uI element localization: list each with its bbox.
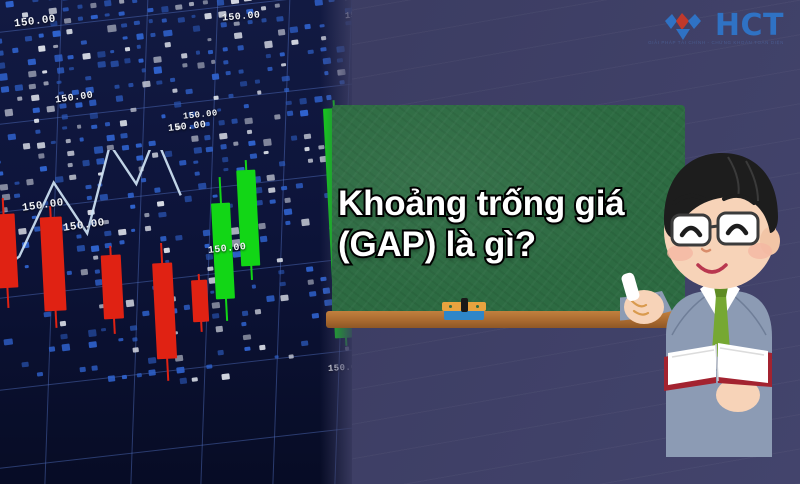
- matrix-dot: [321, 276, 327, 281]
- teacher-head: [664, 153, 780, 289]
- matrix-dot: [261, 6, 267, 11]
- matrix-dot: [324, 192, 331, 198]
- matrix-dot: [121, 23, 127, 28]
- matrix-dot: [161, 6, 170, 13]
- matrix-dot: [62, 7, 68, 12]
- matrix-dot: [340, 80, 345, 84]
- matrix-dot: [62, 126, 67, 130]
- matrix-dot: [79, 138, 84, 142]
- matrix-dot: [54, 55, 63, 62]
- matrix-dot: [110, 60, 119, 67]
- matrix-dot: [15, 84, 24, 91]
- matrix-dot: [163, 30, 172, 37]
- matrix-dot: [195, 50, 200, 54]
- matrix-dot: [345, 347, 350, 351]
- eraser-bottom: [444, 311, 484, 320]
- matrix-dot: [57, 80, 62, 84]
- matrix-dot: [265, 53, 271, 58]
- matrix-dot: [224, 60, 229, 64]
- headline-text: Khoảng trống giá (GAP) là gì?: [338, 183, 668, 266]
- matrix-dot: [124, 47, 130, 52]
- matrix-dot: [268, 67, 273, 71]
- matrix-dot: [119, 120, 127, 127]
- matrix-dot: [53, 45, 58, 49]
- matrix-dot: [5, 1, 14, 8]
- matrix-dot: [307, 49, 313, 54]
- eraser-knob: [461, 298, 468, 312]
- matrix-dot: [257, 90, 262, 94]
- matrix-dot: [299, 98, 307, 104]
- matrix-dot: [119, 0, 124, 4]
- matrix-dot: [300, 110, 309, 117]
- matrix-dot: [314, 96, 323, 103]
- matrix-dot: [264, 41, 273, 48]
- matrix-dot: [115, 95, 124, 102]
- matrix-dot: [122, 36, 127, 40]
- matrix-dot: [280, 53, 285, 57]
- matrix-dot: [344, 8, 352, 15]
- matrix-dot: [61, 114, 68, 119]
- matrix-dot: [77, 125, 82, 129]
- matrix-dot: [320, 47, 327, 52]
- candle-body: [191, 280, 209, 323]
- matrix-dot: [318, 145, 324, 150]
- matrix-dot: [61, 0, 70, 1]
- matrix-dot: [223, 47, 228, 51]
- brand-name: HCT: [715, 11, 784, 41]
- price-label: 150.00: [345, 9, 352, 21]
- matrix-dot: [346, 21, 351, 25]
- eraser-dot-left: [449, 305, 452, 308]
- matrix-dot: [56, 67, 64, 74]
- teacher-illustration: [620, 145, 800, 484]
- matrix-dot: [52, 30, 60, 37]
- matrix-dot: [173, 101, 181, 108]
- matrix-dot: [323, 288, 331, 294]
- matrix-dot: [120, 132, 128, 139]
- matrix-dot: [115, 84, 120, 88]
- matrix-dot: [274, 114, 281, 120]
- brand-logo[interactable]: HCT GIẢI PHÁP TÀI CHÍNH - CHỨNG KHOÁN TO…: [663, 9, 784, 43]
- matrix-dot: [291, 39, 298, 45]
- candle-body: [101, 254, 124, 319]
- matrix-dot: [12, 48, 18, 53]
- chalkboard-eraser-icon: [442, 302, 486, 320]
- matrix-dot: [81, 40, 87, 45]
- matrix-dot: [64, 18, 71, 24]
- chart-background: 150.00150.00150.00150.00150.00150.00150.…: [0, 0, 352, 484]
- matrix-dot: [344, 0, 350, 1]
- poster-canvas: 150.00150.00150.00150.00150.00150.00150.…: [0, 0, 800, 484]
- diamond-logo-icon: [663, 9, 709, 43]
- matrix-dot: [255, 80, 260, 84]
- matrix-dot: [68, 54, 74, 59]
- matrix-dot: [128, 83, 134, 88]
- matrix-dot: [130, 107, 136, 112]
- matrix-dot: [69, 67, 74, 71]
- matrix-dot: [337, 69, 346, 76]
- eraser-dot-right: [476, 305, 479, 308]
- matrix-dot: [326, 95, 332, 100]
- price-label: 150.00: [328, 362, 352, 374]
- matrix-dot: [65, 139, 71, 144]
- brand-tagline: GIẢI PHÁP TÀI CHÍNH - CHỨNG KHOÁN TOÀN D…: [648, 40, 784, 45]
- matrix-dot: [66, 29, 73, 35]
- matrix-dot: [304, 24, 311, 30]
- matrix-dot: [282, 75, 290, 82]
- matrix-dot: [132, 0, 137, 3]
- matrix-dot: [165, 42, 171, 47]
- matrix-dot: [324, 71, 329, 75]
- matrix-dot: [328, 0, 334, 2]
- matrix-dot: [172, 88, 178, 93]
- matrix-dot: [281, 63, 286, 67]
- matrix-dot: [225, 71, 230, 75]
- matrix-dot: [162, 18, 167, 22]
- matrix-dot: [290, 26, 299, 33]
- matrix-dot: [320, 156, 329, 163]
- matrix-dot: [136, 143, 142, 148]
- matrix-dot: [287, 111, 294, 116]
- matrix-dot: [77, 5, 82, 9]
- matrix-dot: [170, 78, 176, 83]
- matrix-dot: [17, 97, 22, 101]
- matrix-dot: [337, 58, 343, 63]
- matrix-dot: [278, 29, 286, 35]
- matrix-dot: [78, 17, 83, 21]
- headline-line-1: Khoảng trống giá: [338, 183, 668, 224]
- matrix-dot: [323, 58, 331, 65]
- matrix-dot: [276, 16, 284, 22]
- matrix-dot: [320, 36, 326, 41]
- matrix-dot: [303, 134, 311, 140]
- matrix-dot: [274, 4, 279, 8]
- matrix-dot: [124, 58, 130, 63]
- matrix-dot: [110, 50, 115, 54]
- matrix-dot: [119, 11, 125, 16]
- matrix-dot: [261, 18, 267, 22]
- matrix-dot: [285, 101, 291, 106]
- matrix-dot: [22, 143, 30, 149]
- matrix-dot: [336, 45, 345, 52]
- matrix-dot: [284, 88, 290, 93]
- matrix-dot: [263, 139, 272, 146]
- headline-line-2: (GAP) là gì?: [338, 224, 668, 265]
- matrix-dot: [290, 135, 297, 141]
- matrix-dot: [319, 24, 324, 28]
